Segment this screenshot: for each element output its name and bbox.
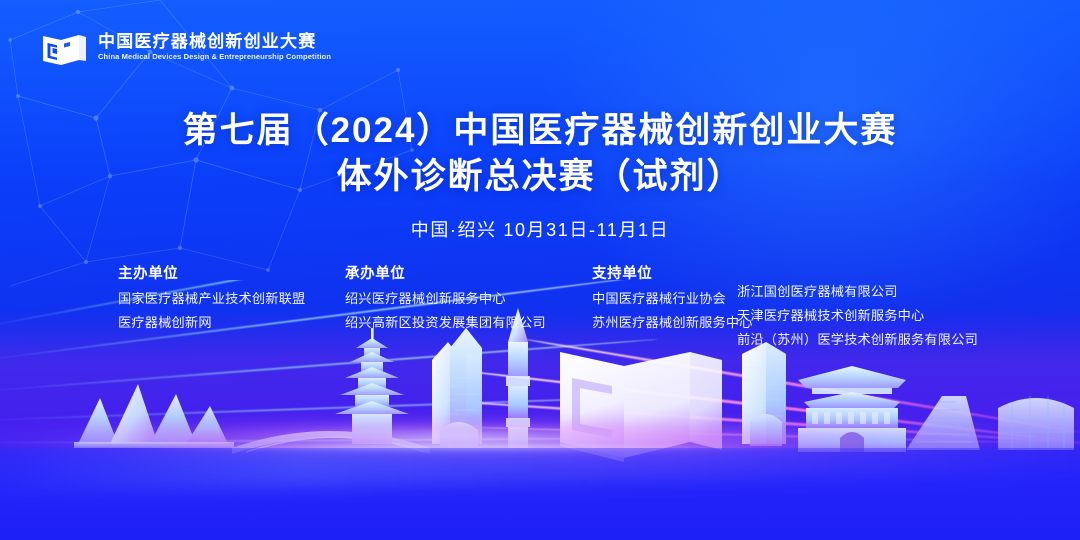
title-line-2: 体外诊断总决赛（试剂） bbox=[0, 154, 1080, 200]
support-item: 天津医疗器械技术创新服务中心 bbox=[737, 309, 978, 322]
brand-logo: 中国医疗器械创新创业大赛 China Medical Devices Desig… bbox=[40, 22, 327, 70]
stepped-stadium-icon bbox=[906, 396, 980, 450]
host-heading: 主办单位 bbox=[118, 262, 305, 283]
organizers-block: 主办单位 国家医疗器械产业技术创新联盟 医疗器械创新网 承办单位 绍兴医疗器械创… bbox=[0, 262, 1080, 362]
support-item: 前沿（苏州）医学技术创新服务有限公司 bbox=[737, 333, 978, 346]
title-block: 第七届（2024）中国医疗器械创新创业大赛 体外诊断总决赛（试剂） bbox=[0, 108, 1080, 199]
undertaker-item: 绍兴医疗器械创新服务中心 bbox=[345, 292, 546, 305]
undertaker-heading: 承办单位 bbox=[345, 262, 546, 283]
organizer-column-undertaker: 承办单位 绍兴医疗器械创新服务中心 绍兴高新区投资发展集团有限公司 bbox=[345, 262, 546, 340]
organizer-column-host: 主办单位 国家医疗器械产业技术创新联盟 医疗器械创新网 bbox=[118, 262, 305, 340]
support-heading: 支持单位 bbox=[592, 262, 753, 283]
host-item: 医疗器械创新网 bbox=[118, 316, 305, 329]
brand-name-cn: 中国医疗器械创新创业大赛 bbox=[98, 33, 327, 51]
organizer-column-support: 支持单位 中国医疗器械行业协会 苏州医疗器械创新服务中心 bbox=[592, 262, 753, 340]
ground-sheen bbox=[0, 425, 1080, 494]
traditional-gate-icon bbox=[798, 366, 906, 452]
support-item: 浙江国创医疗器械有限公司 bbox=[737, 285, 978, 298]
brand-name-en: China Medical Devices Design & Entrepren… bbox=[98, 53, 331, 61]
support-item: 中国医疗器械行业协会 bbox=[592, 292, 753, 305]
dome-arena-icon bbox=[998, 396, 1074, 450]
ground-plane bbox=[0, 448, 1080, 540]
poster-canvas: 中国医疗器械创新创业大赛 China Medical Devices Desig… bbox=[0, 0, 1080, 540]
host-item: 国家医疗器械产业技术创新联盟 bbox=[118, 292, 305, 305]
title-line-1: 第七届（2024）中国医疗器械创新创业大赛 bbox=[0, 108, 1080, 154]
brand-text: 中国医疗器械创新创业大赛 China Medical Devices Desig… bbox=[98, 31, 327, 61]
horizon-glow-core bbox=[160, 443, 920, 452]
horizon-glow bbox=[0, 414, 1080, 468]
bridge-icon bbox=[232, 431, 430, 454]
logo-monument-icon bbox=[560, 352, 722, 482]
undertaker-item: 绍兴高新区投资发展集团有限公司 bbox=[345, 316, 546, 329]
open-book-door-logo-icon bbox=[40, 22, 88, 70]
sail-pavilion-icon bbox=[74, 384, 234, 448]
event-subtitle: 中国·绍兴 10月31日-11月1日 bbox=[0, 216, 1080, 242]
organizer-column-support-secondary: 浙江国创医疗器械有限公司 天津医疗器械技术创新服务中心 前沿（苏州）医学技术创新… bbox=[737, 285, 978, 358]
support-item: 苏州医疗器械创新服务中心 bbox=[592, 316, 753, 329]
